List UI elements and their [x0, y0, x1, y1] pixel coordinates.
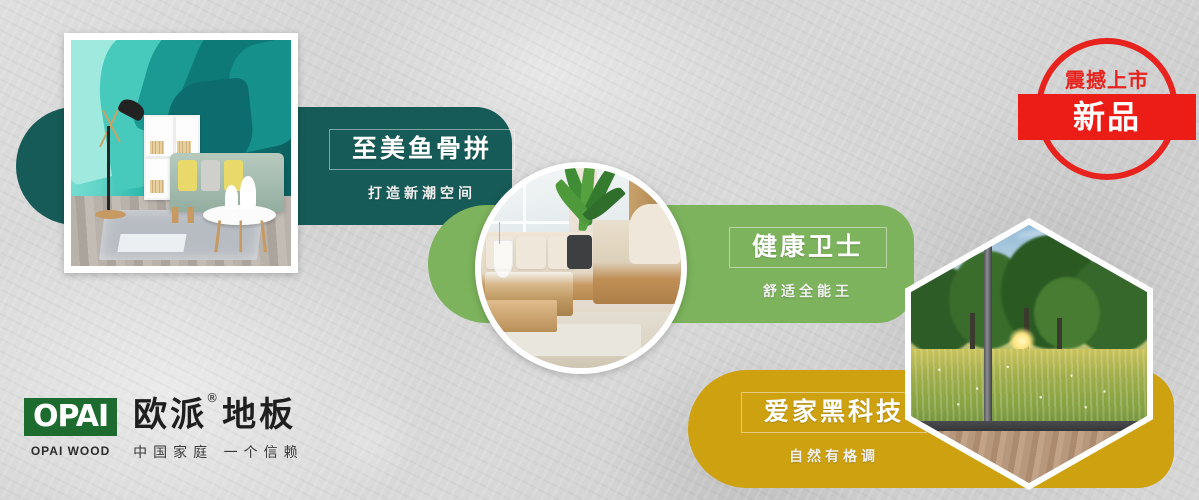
logo-english-name: OPAI WOOD — [31, 444, 110, 458]
panel-green-title-box: 健康卫士 — [729, 227, 887, 269]
pillow-yellow-left — [178, 160, 197, 191]
book-2 — [157, 141, 164, 154]
panel-gold-subtitle: 自然有格调 — [789, 446, 879, 466]
panel-gold-title-box: 爱家黑科技 — [741, 392, 927, 434]
book-6 — [157, 180, 164, 193]
hexagon-photo-inner — [911, 225, 1147, 483]
window-mullion-h — [481, 221, 569, 224]
tree-5 — [1034, 277, 1100, 349]
logo-chinese-name: 欧派®地板 — [133, 398, 303, 432]
logo-chinese-name-part1: 欧派 — [133, 395, 207, 435]
coffee-table-lower-shelf — [481, 300, 557, 332]
cloud-1 — [930, 225, 1023, 250]
logo-slogan: 中国家庭 一个信赖 — [133, 442, 303, 462]
photo-teal-livingroom[interactable] — [64, 33, 298, 273]
sofa-cushion-2 — [516, 236, 546, 269]
logo-right-block: 欧派®地板 中国家庭 一个信赖 — [133, 398, 303, 462]
badge-main-text: 新品 — [1018, 94, 1196, 140]
glass-vase — [493, 240, 513, 278]
logo-chinese-name-part2: 地板 — [222, 395, 296, 435]
brand-logo[interactable]: OPAI OPAI WOOD 欧派®地板 中国家庭 一个信赖 — [24, 398, 304, 462]
decor-vase-1 — [225, 185, 238, 210]
opai-logo-mark-text: OPAI — [33, 402, 108, 432]
rug-highlight — [118, 234, 187, 252]
armchair-backrest — [629, 204, 681, 264]
panel-teal-subtitle: 打造新潮空间 — [368, 183, 476, 203]
photo-circle-wood-livingroom[interactable] — [475, 162, 687, 374]
panel-green-subtitle: 舒适全能王 — [763, 281, 853, 301]
new-product-badge[interactable]: 震撼上市 新品 — [1036, 38, 1178, 180]
panel-green-content: 健康卫士 舒适全能王 — [702, 205, 914, 323]
badge-banner: 新品 — [1018, 94, 1196, 140]
sofa-pillow-dark — [567, 235, 593, 269]
panel-teal-title: 至美鱼骨拼 — [352, 135, 492, 163]
floor-lamp-base — [95, 210, 126, 219]
pillow-gray — [201, 160, 220, 191]
sofa-legs — [172, 207, 194, 223]
photo-hexagon-nature[interactable] — [905, 218, 1153, 490]
registered-mark: ® — [206, 391, 221, 405]
badge-top-text: 震撼上市 — [1036, 64, 1178, 93]
opai-logo-mark: OPAI — [24, 398, 117, 436]
logo-left-block: OPAI OPAI WOOD — [24, 398, 117, 458]
panel-teal-title-box: 至美鱼骨拼 — [329, 129, 515, 171]
promo-banner: 至美鱼骨拼 打造新潮空间 健康卫士 舒适全能王 爱家黑科技 自然有格调 — [0, 0, 1199, 500]
panel-gold-title: 爱家黑科技 — [764, 398, 904, 426]
photo-circle-scene — [481, 168, 681, 368]
coffee-table-legs — [209, 220, 271, 251]
decor-vase-2 — [240, 176, 255, 210]
vase-branch — [499, 222, 500, 244]
panel-green-title: 健康卫士 — [752, 233, 864, 261]
wildflowers — [911, 354, 1147, 426]
photo-teal-livingroom-scene — [71, 40, 291, 266]
window-frame-post — [984, 225, 992, 431]
floor-lamp-pole — [107, 126, 110, 212]
